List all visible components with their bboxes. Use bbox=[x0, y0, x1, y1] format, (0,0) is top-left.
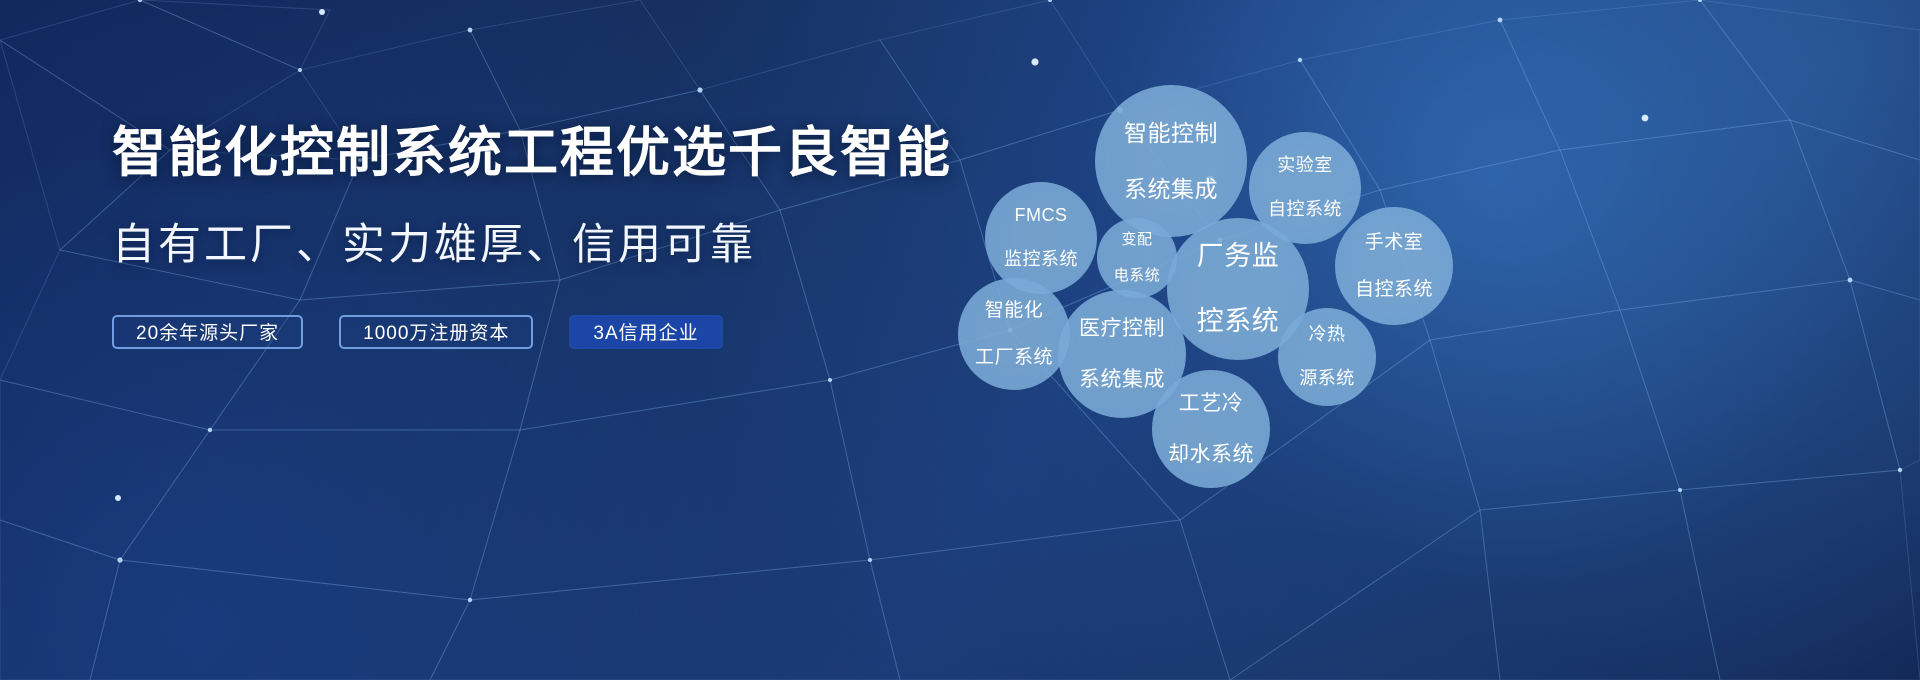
bubble-label: 厂务监 控系统 bbox=[1189, 240, 1288, 339]
hero-banner: 智能化控制系统工程优选千良智能 自有工厂、实力雄厚、信用可靠 20余年源头厂家 … bbox=[0, 0, 1920, 680]
bubble-heat-cold-source-system[interactable]: 冷热 源系统 bbox=[1278, 308, 1376, 406]
bubble-label-line: 控系统 bbox=[1193, 305, 1284, 338]
bubble-label: 变配 电系统 bbox=[1106, 231, 1169, 286]
bubble-power-distribution-system[interactable]: 变配 电系统 bbox=[1097, 218, 1177, 298]
bubble-label: FMCS 监控系统 bbox=[996, 205, 1086, 271]
bubble-process-cooling-water-system[interactable]: 工艺冷 却水系统 bbox=[1152, 370, 1270, 488]
bubble-label-line: 医疗控制 bbox=[1075, 316, 1169, 342]
bubble-label: 冷热 源系统 bbox=[1291, 324, 1363, 390]
badge-years-factory[interactable]: 20余年源头厂家 bbox=[112, 315, 303, 349]
bubble-label: 工艺冷 却水系统 bbox=[1160, 391, 1262, 468]
bubble-label-line: 工艺冷 bbox=[1164, 391, 1258, 417]
bubble-label: 实验室 自控系统 bbox=[1260, 155, 1350, 221]
bubble-label-line: 厂务监 bbox=[1193, 240, 1284, 273]
bubble-operating-room-control-system[interactable]: 手术室 自控系统 bbox=[1335, 207, 1453, 325]
bubble-label-line: FMCS bbox=[1000, 205, 1082, 227]
bubble-label-line: 监控系统 bbox=[1000, 249, 1082, 271]
bubble-label-line: 电系统 bbox=[1110, 267, 1165, 285]
badge-registered-capital[interactable]: 1000万注册资本 bbox=[339, 315, 533, 349]
bubble-label-line: 变配 bbox=[1110, 231, 1165, 249]
bubble-fmcs-monitoring-system[interactable]: FMCS 监控系统 bbox=[985, 182, 1097, 294]
badge-3a-credit-enterprise[interactable]: 3A信用企业 bbox=[569, 315, 722, 349]
service-bubble-cluster: 智能控制 系统集成 实验室 自控系统 手术室 自控系统 FMCS 监控系统 bbox=[940, 40, 1740, 660]
hero-subtitle: 自有工厂、实力雄厚、信用可靠 bbox=[112, 220, 972, 272]
bubble-label-line: 实验室 bbox=[1264, 155, 1346, 177]
bubble-label-line: 却水系统 bbox=[1164, 442, 1258, 468]
bubble-smart-factory-system[interactable]: 智能化 工厂系统 bbox=[958, 278, 1070, 390]
bubble-label-line: 工厂系统 bbox=[971, 346, 1057, 369]
bubble-label-line: 自控系统 bbox=[1351, 278, 1437, 301]
bubble-label-line: 自控系统 bbox=[1264, 199, 1346, 221]
hero-text-block: 智能化控制系统工程优选千良智能 自有工厂、实力雄厚、信用可靠 20余年源头厂家 … bbox=[112, 122, 972, 349]
bubble-label: 医疗控制 系统集成 bbox=[1071, 316, 1173, 393]
bubble-label-line: 系统集成 bbox=[1120, 175, 1222, 203]
bubble-intelligent-control-integration[interactable]: 智能控制 系统集成 bbox=[1095, 85, 1247, 237]
bubble-label-line: 智能化 bbox=[971, 299, 1057, 322]
bubble-label-line: 手术室 bbox=[1351, 231, 1437, 254]
bubble-label: 智能化 工厂系统 bbox=[967, 299, 1061, 369]
bubble-label-line: 系统集成 bbox=[1075, 367, 1169, 393]
bubble-label-line: 冷热 bbox=[1295, 324, 1359, 346]
bubble-label: 智能控制 系统集成 bbox=[1116, 119, 1226, 203]
bubble-label-line: 智能控制 bbox=[1120, 119, 1222, 147]
feature-badge-row: 20余年源头厂家 1000万注册资本 3A信用企业 bbox=[112, 315, 972, 349]
page-title: 智能化控制系统工程优选千良智能 bbox=[112, 122, 972, 186]
bubble-label: 手术室 自控系统 bbox=[1347, 231, 1441, 301]
bubble-label-line: 源系统 bbox=[1295, 368, 1359, 390]
